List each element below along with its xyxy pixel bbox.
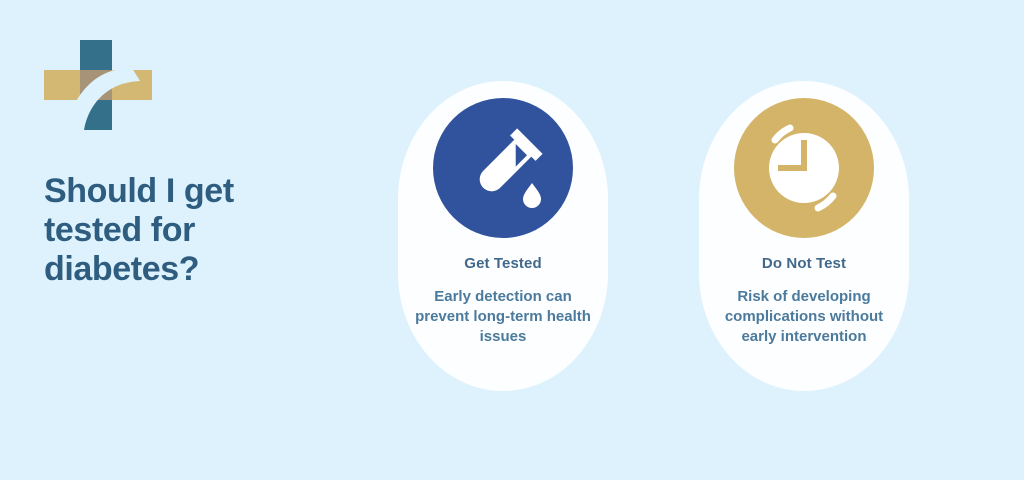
card-do-not-test[interactable]: Do Not Test Risk of developing complicat… <box>699 81 909 391</box>
card-description: Early detection can prevent long-term he… <box>412 287 594 347</box>
card-title: Do Not Test <box>699 255 909 272</box>
page-title: Should I get tested for diabetes? <box>44 172 314 288</box>
infographic-slide: Should I get tested for diabetes? Get Te… <box>0 0 1024 480</box>
test-tube-with-drop-icon <box>433 98 573 238</box>
clock-icon <box>734 98 874 238</box>
left-column: Should I get tested for diabetes? <box>44 40 344 440</box>
card-description: Risk of developing complications without… <box>713 287 895 347</box>
card-title: Get Tested <box>398 255 608 272</box>
card-get-tested[interactable]: Get Tested Early detection can prevent l… <box>398 81 608 391</box>
medical-cross-swoosh-logo-icon <box>44 40 152 132</box>
